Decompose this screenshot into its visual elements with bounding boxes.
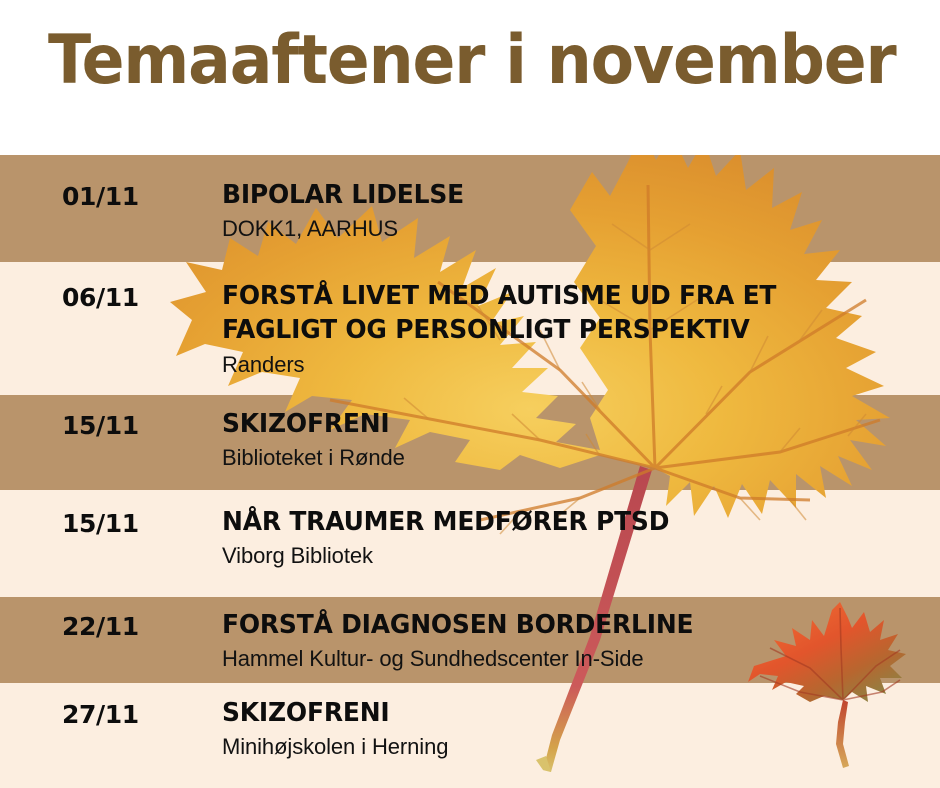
poster-canvas: Temaaftener i november 01/11BIPOLAR LIDE…: [0, 0, 940, 788]
event-date: 15/11: [62, 509, 139, 538]
event-date: 15/11: [62, 411, 139, 440]
event-title-line: FORSTÅ LIVET MED AUTISME UD FRA ET: [222, 279, 776, 313]
event-body: FORSTÅ DIAGNOSEN BORDERLINEHammel Kultur…: [222, 608, 713, 673]
event-title-line: BIPOLAR LIDELSE: [222, 178, 464, 212]
event-title-line: FAGLIGT OG PERSONLIGT PERSPEKTIV: [222, 313, 776, 347]
header-bar: Temaaftener i november: [0, 0, 940, 155]
event-title-line: SKIZOFRENI: [222, 696, 439, 730]
event-date: 27/11: [62, 700, 139, 729]
event-date: 22/11: [62, 612, 139, 641]
event-venue: Minihøjskolen i Herning: [222, 733, 448, 761]
event-title-line: SKIZOFRENI: [222, 407, 397, 441]
event-venue: Randers: [222, 351, 799, 379]
event-venue: DOKK1, AARHUS: [222, 215, 474, 243]
event-venue: Biblioteket i Rønde: [222, 444, 405, 472]
event-date: 06/11: [62, 283, 139, 312]
event-title-line: FORSTÅ DIAGNOSEN BORDERLINE: [222, 608, 693, 642]
event-body: SKIZOFRENIBiblioteket i Rønde: [222, 407, 405, 472]
event-date: 01/11: [62, 182, 139, 211]
event-body: SKIZOFRENIMinihøjskolen i Herning: [222, 696, 448, 761]
event-body: FORSTÅ LIVET MED AUTISME UD FRA ETFAGLIG…: [222, 279, 799, 378]
event-title-line: NÅR TRAUMER MEDFØRER PTSD: [222, 505, 669, 539]
page-title: Temaaftener i november: [48, 27, 896, 95]
event-body: NÅR TRAUMER MEDFØRER PTSDViborg Bibliote…: [222, 505, 688, 570]
event-venue: Hammel Kultur- og Sundhedscenter In-Side: [222, 645, 713, 673]
event-venue: Viborg Bibliotek: [222, 542, 688, 570]
event-body: BIPOLAR LIDELSEDOKK1, AARHUS: [222, 178, 474, 243]
